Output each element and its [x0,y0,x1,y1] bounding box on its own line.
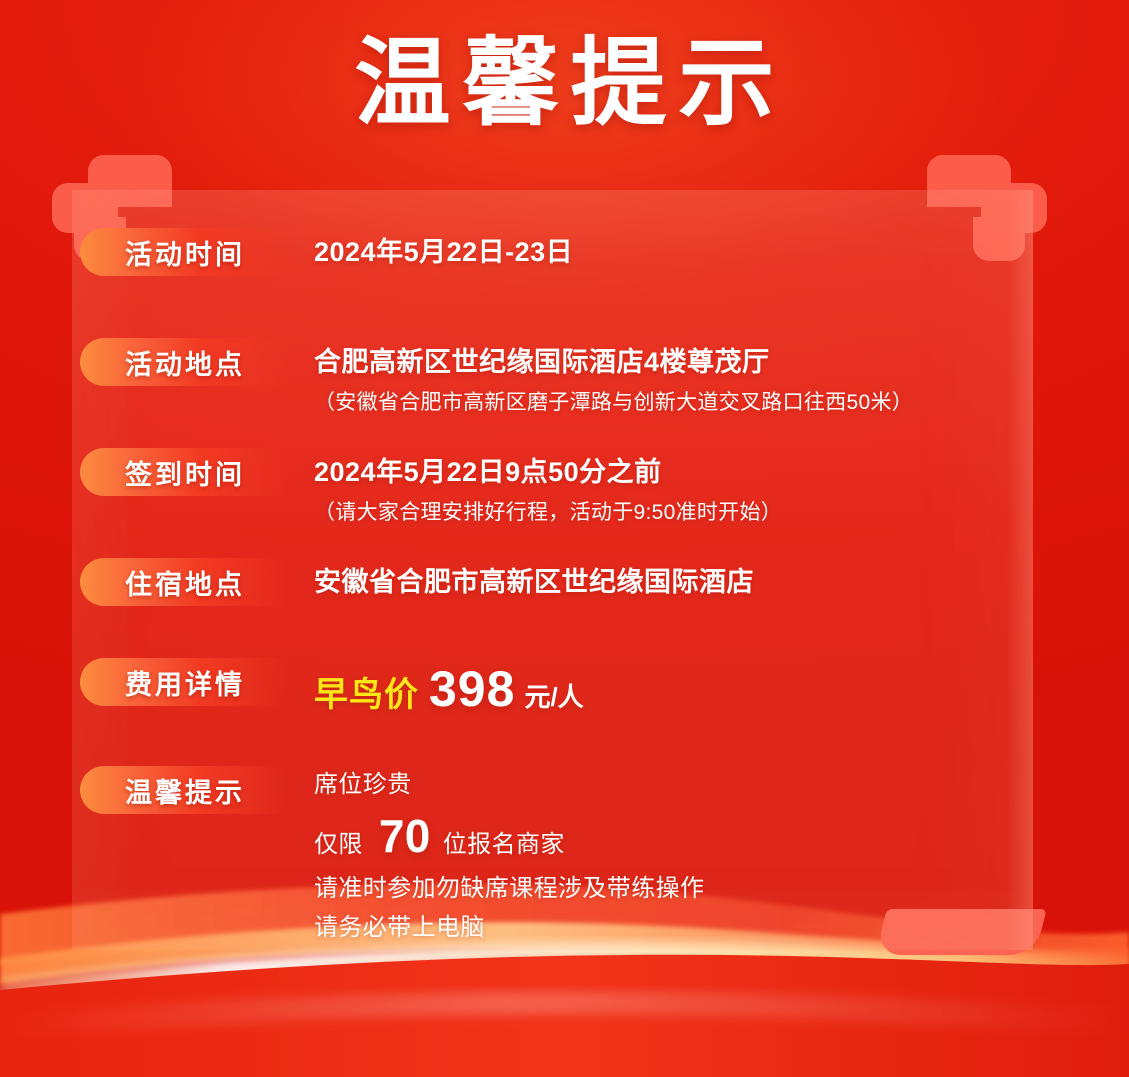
note-limit-number: 70 [379,809,431,864]
note-limit-suffix: 位报名商家 [443,831,565,860]
info-row-accommodation: 住宿地点 安徽省合肥市高新区世纪缘国际酒店 [72,558,1033,606]
fee-early-bird-tag: 早鸟价 [314,667,419,716]
info-content-event-time: 2024年5月22日-23日 [287,228,1033,269]
fee-unit: 元/人 [524,677,583,714]
info-row-notes: 温馨提示 席位珍贵 仅限 70 位报名商家 请准时参加勿缺席课程涉及带练操作 请… [72,766,1033,948]
pill-label-text: 活动时间 [122,233,245,272]
pill-label-text: 费用详情 [122,663,245,702]
info-sub-text: （请大家合理安排好行程，活动于9:50准时开始） [314,496,1033,526]
info-main-text: 2024年5月22日-23日 [314,230,1033,269]
note-line-1: 席位珍贵 [314,766,1033,805]
note-limit-prefix: 仅限 [314,831,363,860]
info-row-list: 活动时间 2024年5月22日-23日 活动地点 合肥高新区世纪缘国际酒店4楼尊… [72,190,1033,950]
label-pill-accommodation: 住宿地点 [80,558,287,606]
pill-label-text: 签到时间 [122,453,245,492]
info-content-checkin: 2024年5月22日9点50分之前 （请大家合理安排好行程，活动于9:50准时开… [287,448,1033,526]
info-content-accommodation: 安徽省合肥市高新区世纪缘国际酒店 [287,558,1033,599]
info-row-fee: 费用详情 早鸟价 398 元/人 [72,658,1033,718]
poster-title-area: 温馨提示 [0,34,1129,135]
note-line-2: 仅限 70 位报名商家 [314,809,1033,864]
info-panel: 活动时间 2024年5月22日-23日 活动地点 合肥高新区世纪缘国际酒店4楼尊… [72,190,1033,950]
info-content-notes: 席位珍贵 仅限 70 位报名商家 请准时参加勿缺席课程涉及带练操作 请务必带上电… [287,766,1033,948]
label-pill-notes: 温馨提示 [80,766,287,814]
page-title: 温馨提示 [343,34,787,135]
label-pill-fee: 费用详情 [80,658,287,706]
label-pill-venue: 活动地点 [80,338,287,386]
label-pill-event-time: 活动时间 [80,228,287,276]
info-main-text: 安徽省合肥市高新区世纪缘国际酒店 [314,560,1033,599]
fee-amount: 398 [429,660,515,718]
pill-label-text: 活动地点 [122,343,245,382]
label-pill-checkin: 签到时间 [80,448,287,496]
fee-line: 早鸟价 398 元/人 [314,660,1033,718]
info-row-checkin: 签到时间 2024年5月22日9点50分之前 （请大家合理安排好行程，活动于9:… [72,448,1033,526]
pill-label-text: 温馨提示 [122,771,245,810]
info-row-event-time: 活动时间 2024年5月22日-23日 [72,228,1033,276]
info-row-venue: 活动地点 合肥高新区世纪缘国际酒店4楼尊茂厅 （安徽省合肥市高新区磨子潭路与创新… [72,338,1033,416]
info-main-text: 2024年5月22日9点50分之前 [314,450,1033,489]
info-content-venue: 合肥高新区世纪缘国际酒店4楼尊茂厅 （安徽省合肥市高新区磨子潭路与创新大道交叉路… [287,338,1033,416]
info-content-fee: 早鸟价 398 元/人 [287,658,1033,718]
pill-label-text: 住宿地点 [122,563,245,602]
info-main-text: 合肥高新区世纪缘国际酒店4楼尊茂厅 [314,340,1033,379]
info-sub-text: （安徽省合肥市高新区磨子潭路与创新大道交叉路口往西50米） [314,386,1033,416]
note-line-4: 请务必带上电脑 [314,909,1033,948]
note-line-3: 请准时参加勿缺席课程涉及带练操作 [314,870,1033,909]
